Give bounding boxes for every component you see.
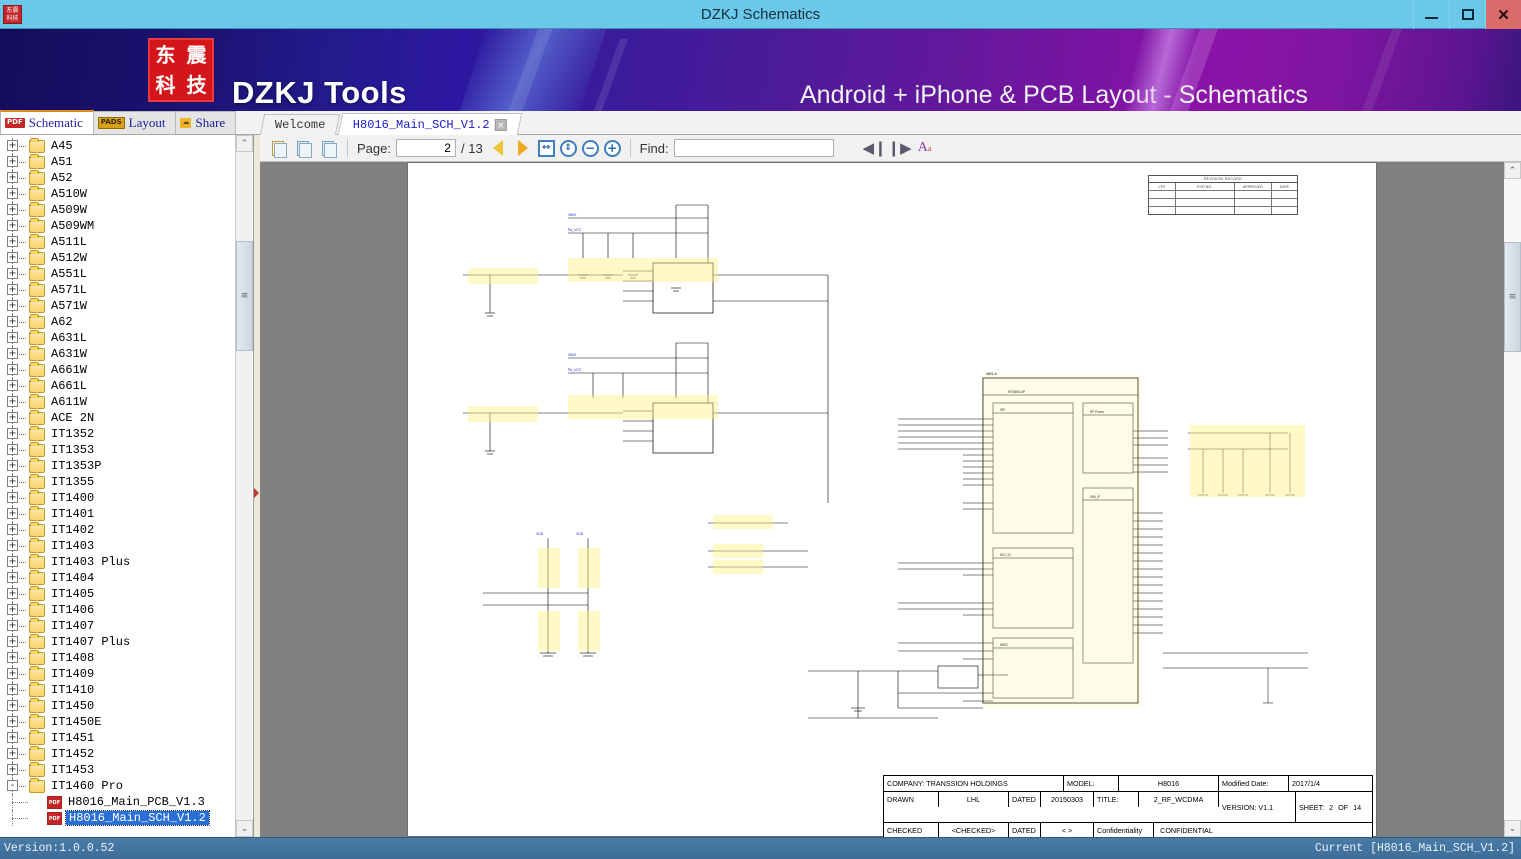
tree-indent-guide: +	[0, 602, 28, 618]
expand-icon[interactable]: +	[7, 460, 18, 471]
expand-icon[interactable]: +	[7, 540, 18, 551]
pdf-toolbar: Page: / 13 ↔ ⇕ − + Find: ◀❙ ❙▶ Aa	[260, 135, 1521, 162]
tree-item[interactable]: +IT1451	[0, 730, 236, 746]
tree-item-label: IT1403 Plus	[49, 555, 130, 569]
expand-icon[interactable]: +	[7, 412, 18, 423]
sheet-value: 2	[1329, 803, 1333, 812]
tree-item[interactable]: +IT1402	[0, 522, 236, 538]
expand-icon[interactable]: +	[7, 316, 18, 327]
tree-item[interactable]: +IT1400	[0, 490, 236, 506]
fit-width-icon[interactable]: ↔	[538, 140, 555, 157]
tree-indent-guide: +	[0, 666, 28, 682]
tree-indent-guide: +	[0, 314, 28, 330]
main-tab-bar: PDF Schematic PADS Layout ☁ Share	[0, 111, 1521, 135]
tree-item-label: IT1407	[49, 619, 94, 633]
tree-indent-guide: +	[0, 650, 28, 666]
svg-text:VBAT: VBAT	[568, 353, 577, 357]
tree-item-label: IT1355	[49, 475, 94, 489]
folder-icon	[29, 700, 45, 713]
folder-icon	[29, 172, 45, 185]
expand-icon[interactable]: +	[7, 652, 18, 663]
tree-item-label: ACE 2N	[49, 411, 94, 425]
tree-item[interactable]: +IT1404	[0, 570, 236, 586]
doc-tab-welcome-label: Welcome	[275, 118, 325, 132]
expand-icon[interactable]: +	[7, 380, 18, 391]
expand-icon[interactable]: +	[7, 492, 18, 503]
tab-layout[interactable]: PADS Layout	[93, 111, 177, 134]
tree-item-label: A661W	[49, 363, 87, 377]
tree-item[interactable]: +IT1450E	[0, 714, 236, 730]
tree-indent-guide: +	[0, 634, 28, 650]
app-banner: 东 震 科 技 DZKJ Tools Android + iPhone & PC…	[0, 29, 1521, 111]
folder-icon	[29, 156, 45, 169]
tree-indent-guide: +	[0, 362, 28, 378]
viewer-scrollbar[interactable]: ⌃ ≡ ⌄	[1504, 162, 1521, 837]
tree-item[interactable]: +IT1403	[0, 538, 236, 554]
tree-item[interactable]: +IT1353P	[0, 458, 236, 474]
tree-indent-guide: +	[0, 234, 28, 250]
find-next-icon[interactable]: ❙▶	[890, 138, 910, 158]
viewer-scroll-thumb[interactable]: ≡	[1504, 242, 1521, 352]
tree-item[interactable]: -IT1460 Pro	[0, 778, 236, 794]
folder-icon	[29, 748, 45, 761]
drawing-title-block: COMPANY: TRANSSION HOLDINGS MODEL: H8016…	[883, 775, 1373, 837]
tree-item-label: IT1406	[49, 603, 94, 617]
find-previous-icon[interactable]: ◀❙	[865, 138, 885, 158]
tree-indent-guide: +	[0, 682, 28, 698]
tree-item[interactable]: PDFH8016_Main_SCH_V1.2	[0, 810, 236, 826]
tree-item[interactable]: +IT1403 Plus	[0, 554, 236, 570]
folder-icon	[29, 732, 45, 745]
tree-indent-guide: +	[0, 458, 28, 474]
title-block-row-drawn: DRAWN LHL DATED 20150303 TITLE: 2_RF_WCD…	[884, 792, 1372, 823]
tree-item-label: A510W	[49, 187, 87, 201]
tree-indent-guide: +	[0, 250, 28, 266]
tree-indent-guide: +	[0, 346, 28, 362]
tree-item-label: IT1453	[49, 763, 94, 777]
tree-item-label: IT1408	[49, 651, 94, 665]
collapse-icon[interactable]: -	[7, 780, 18, 791]
minimize-button[interactable]	[1413, 0, 1449, 29]
tree-item-label: IT1402	[49, 523, 94, 537]
page-total-label: / 13	[461, 141, 483, 156]
expand-icon[interactable]: +	[7, 428, 18, 439]
tree-item-label: IT1407 Plus	[49, 635, 130, 649]
expand-icon[interactable]: +	[7, 636, 18, 647]
tree-indent-guide: +	[0, 298, 28, 314]
folder-icon	[29, 524, 45, 537]
folder-icon	[29, 204, 45, 217]
tree-item[interactable]: +IT1453	[0, 762, 236, 778]
sidebar-scroll-up-button[interactable]: ⌃	[236, 135, 253, 152]
tree-item-label: A512W	[49, 251, 87, 265]
tree-item[interactable]: +A571L	[0, 282, 236, 298]
folder-icon	[29, 492, 45, 505]
tree-item-label: A511L	[49, 235, 87, 249]
expand-icon[interactable]: +	[7, 444, 18, 455]
expand-icon[interactable]: +	[7, 268, 18, 279]
tree-item[interactable]: +IT1405	[0, 586, 236, 602]
tree-indent-guide: +	[0, 426, 28, 442]
company-label: COMPANY: TRANSSION HOLDINGS	[884, 776, 1064, 791]
folder-icon	[29, 252, 45, 265]
splitter-collapse-icon[interactable]	[254, 488, 259, 498]
pdf-icon: PDF	[5, 118, 25, 128]
zoom-in-icon[interactable]: +	[604, 140, 621, 157]
drawn-dated-label: DATED	[1009, 792, 1041, 807]
confidentiality-value: CONFIDENTIAL	[1154, 823, 1219, 837]
folder-icon	[29, 412, 45, 425]
tree-indent-guide: +	[0, 266, 28, 282]
tree-item[interactable]: +A611W	[0, 394, 236, 410]
folder-icon	[29, 428, 45, 441]
current-file-label: Current [H8016_Main_SCH_V1.2]	[1315, 842, 1515, 855]
tree-item[interactable]: +IT1410	[0, 682, 236, 698]
pdf-viewer[interactable]: VBATPA_VCC VBATPA_VCC VDDVDD MT6580-AP S…	[260, 162, 1504, 837]
tree-item[interactable]: +IT1450	[0, 698, 236, 714]
expand-icon[interactable]: +	[7, 396, 18, 407]
tree-item-label: A51	[49, 155, 73, 169]
sidebar-scroll-thumb[interactable]: ≡	[236, 241, 253, 351]
expand-icon[interactable]: +	[7, 572, 18, 583]
drawn-label: DRAWN	[884, 792, 939, 807]
tree-item-label: IT1405	[49, 587, 94, 601]
folder-icon	[29, 764, 45, 777]
expand-icon[interactable]: +	[7, 668, 18, 679]
tree-indent-guide	[0, 794, 46, 810]
tree-item-label: H8016_Main_PCB_V1.3	[66, 795, 205, 809]
folder-icon	[29, 540, 45, 553]
expand-icon[interactable]: +	[7, 236, 18, 247]
tree-indent-guide: +	[0, 506, 28, 522]
tree-item-label: A661L	[49, 379, 87, 393]
tree-indent-guide: +	[0, 570, 28, 586]
tree-item-label: IT1353P	[49, 459, 101, 473]
tree-item-label: IT1460 Pro	[49, 779, 123, 793]
folder-icon	[29, 380, 45, 393]
tree-indent-guide: +	[0, 538, 28, 554]
logo-char-4: 技	[187, 75, 207, 95]
folder-icon	[29, 396, 45, 409]
tree-indent-guide: +	[0, 282, 28, 298]
folder-icon	[29, 364, 45, 377]
tree-item[interactable]: +A631L	[0, 330, 236, 346]
close-button[interactable]: ✕	[1485, 0, 1521, 29]
folder-icon	[29, 556, 45, 569]
tree-indent-guide: +	[0, 746, 28, 762]
pdf-file-icon: PDF	[47, 812, 62, 825]
tree-indent-guide: +	[0, 586, 28, 602]
tree-item-label: IT1410	[49, 683, 94, 697]
folder-icon	[29, 460, 45, 473]
schematic-drawing: VBATPA_VCC VBATPA_VCC VDDVDD MT6580-AP S…	[408, 163, 1378, 837]
sidebar-scroll-down-button[interactable]: ⌄	[236, 820, 253, 837]
revision-record-row	[1149, 207, 1297, 214]
folder-icon	[29, 444, 45, 457]
tree-item-label: IT1352	[49, 427, 94, 441]
revrec-col-approved: APPROVED	[1235, 183, 1272, 190]
expand-icon[interactable]: +	[7, 284, 18, 295]
tree-item-label: H8016_Main_SCH_V1.2	[66, 811, 209, 825]
tree-item-label: A631W	[49, 347, 87, 361]
tree-item[interactable]: +A551L	[0, 266, 236, 282]
pads-icon: PADS	[98, 117, 125, 129]
tree-item[interactable]: +A62	[0, 314, 236, 330]
expand-icon[interactable]: +	[7, 172, 18, 183]
expand-icon[interactable]: +	[7, 300, 18, 311]
tree-item-label: A571L	[49, 283, 87, 297]
tree-item[interactable]: +IT1401	[0, 506, 236, 522]
model-label: MODEL:	[1064, 776, 1119, 791]
tree-indent-guide: +	[0, 618, 28, 634]
tree-indent-guide: +	[0, 394, 28, 410]
folder-icon	[29, 300, 45, 313]
tab-schematic-label: Schematic	[29, 115, 83, 131]
file-tree[interactable]: +A45+A51+A52+A510W+A509W+A509WM+A511L+A5…	[0, 135, 236, 826]
title-label: TITLE:	[1094, 792, 1139, 807]
tree-item[interactable]: +A510W	[0, 186, 236, 202]
version-label: VERSION: V1.1	[1219, 792, 1296, 822]
tree-item-label: A631L	[49, 331, 87, 345]
tree-item-label: IT1452	[49, 747, 94, 761]
find-label: Find:	[640, 141, 669, 156]
tab-schematic[interactable]: PDF Schematic	[0, 110, 94, 134]
search-input[interactable]	[674, 139, 834, 157]
tree-item[interactable]: +A52	[0, 170, 236, 186]
expand-icon[interactable]: +	[7, 252, 18, 263]
viewer-scroll-up-button[interactable]: ⌃	[1504, 162, 1521, 179]
doc-tab-h8016-label: H8016_Main_SCH_V1.2	[353, 118, 490, 132]
expand-icon[interactable]: +	[7, 156, 18, 167]
tree-item[interactable]: +A512W	[0, 250, 236, 266]
expand-icon[interactable]: +	[7, 332, 18, 343]
tree-indent-guide	[0, 810, 46, 826]
tree-item[interactable]: +IT1409	[0, 666, 236, 682]
title-value: 2_RF_WCDMA	[1139, 792, 1219, 807]
tree-indent-guide: +	[0, 474, 28, 490]
tree-item[interactable]: +A661L	[0, 378, 236, 394]
revision-record-title: REVISION RECORD	[1149, 176, 1297, 183]
tree-indent-guide: +	[0, 170, 28, 186]
revrec-col-ecr: ECR NO.	[1176, 183, 1235, 190]
folder-icon	[29, 684, 45, 697]
extract-page-icon[interactable]	[318, 138, 338, 158]
expand-icon[interactable]: +	[7, 716, 18, 727]
folder-icon	[29, 604, 45, 617]
duplicate-page-icon[interactable]	[293, 138, 313, 158]
modified-date-value: 2017/1/4	[1289, 776, 1372, 791]
expand-icon[interactable]: +	[7, 348, 18, 359]
tree-item-label: IT1403	[49, 539, 94, 553]
expand-icon[interactable]: +	[7, 364, 18, 375]
tree-indent-guide: -	[0, 778, 28, 794]
close-icon[interactable]: ×	[495, 119, 507, 131]
window-controls: ✕	[1413, 0, 1521, 29]
status-bar: Version:1.0.0.52 Current [H8016_Main_SCH…	[0, 837, 1521, 859]
folder-icon	[29, 348, 45, 361]
revision-record-row	[1149, 191, 1297, 199]
tree-indent-guide: +	[0, 186, 28, 202]
fit-page-icon[interactable]: ⇕	[560, 140, 577, 157]
folder-icon	[29, 316, 45, 329]
folder-icon	[29, 188, 45, 201]
tree-item[interactable]: +A511L	[0, 234, 236, 250]
tree-item[interactable]: +A631W	[0, 346, 236, 362]
tree-indent-guide: +	[0, 202, 28, 218]
folder-icon	[29, 636, 45, 649]
tree-item-label: IT1400	[49, 491, 94, 505]
tree-item-label: IT1409	[49, 667, 94, 681]
zoom-out-icon[interactable]: −	[582, 140, 599, 157]
dzkj-logo: 东 震 科 技	[148, 38, 214, 102]
tree-indent-guide: +	[0, 554, 28, 570]
sidebar-scrollbar[interactable]: ⌃ ≡ ⌄	[235, 135, 252, 837]
revision-record-header-row: LTR ECR NO. APPROVED DATE	[1149, 183, 1297, 191]
tab-share[interactable]: ☁ Share	[175, 111, 236, 134]
banner-title: DZKJ Tools	[232, 75, 407, 111]
tree-item[interactable]: PDFH8016_Main_PCB_V1.3	[0, 794, 236, 810]
tree-item[interactable]: +IT1408	[0, 650, 236, 666]
tree-indent-guide: +	[0, 522, 28, 538]
tree-item-label: IT1353	[49, 443, 94, 457]
folder-icon	[29, 780, 45, 793]
checked-dated-label: DATED	[1009, 823, 1041, 837]
tree-indent-guide: +	[0, 330, 28, 346]
tree-item-label: A509WM	[49, 219, 94, 233]
logo-char-2: 震	[187, 45, 207, 65]
tree-item-label: A52	[49, 171, 73, 185]
expand-icon[interactable]: +	[7, 556, 18, 567]
find-options-icon[interactable]: Aa	[915, 138, 935, 158]
tree-item-label: IT1451	[49, 731, 94, 745]
tree-item[interactable]: +IT1355	[0, 474, 236, 490]
tree-item[interactable]: +A509WM	[0, 218, 236, 234]
sheet-of-label: OF	[1338, 803, 1348, 812]
sheet-total: 14	[1353, 803, 1361, 812]
revision-record-row	[1149, 199, 1297, 207]
expand-icon[interactable]: +	[7, 604, 18, 615]
folder-icon	[29, 652, 45, 665]
drawn-value: LHL	[939, 792, 1009, 807]
tree-indent-guide: +	[0, 762, 28, 778]
folder-icon	[29, 572, 45, 585]
folder-icon	[29, 476, 45, 489]
tree-indent-guide: +	[0, 138, 28, 154]
next-page-icon[interactable]	[513, 138, 533, 158]
tree-item-label: A571W	[49, 299, 87, 313]
doc-tab-welcome[interactable]: Welcome	[260, 114, 341, 135]
tree-indent-guide: +	[0, 378, 28, 394]
expand-icon[interactable]: +	[7, 732, 18, 743]
tree-item[interactable]: +A509W	[0, 202, 236, 218]
expand-icon[interactable]: +	[7, 204, 18, 215]
tree-item[interactable]: +IT1407	[0, 618, 236, 634]
folder-icon	[29, 588, 45, 601]
tree-item[interactable]: +A45	[0, 138, 236, 154]
expand-icon[interactable]: +	[7, 620, 18, 631]
checked-dated-value: < >	[1041, 823, 1094, 837]
folder-icon	[29, 140, 45, 153]
svg-text:VBAT: VBAT	[568, 213, 577, 217]
confidentiality-label: Confidentiality	[1094, 823, 1154, 837]
tree-indent-guide: +	[0, 154, 28, 170]
expand-icon[interactable]: +	[7, 220, 18, 231]
modified-date-label: Modified Date:	[1219, 776, 1289, 791]
svg-text:VDD: VDD	[536, 532, 544, 536]
checked-value: <CHECKED>	[939, 823, 1009, 837]
expand-icon[interactable]: +	[7, 764, 18, 775]
tree-item[interactable]: +IT1452	[0, 746, 236, 762]
page-number-input[interactable]	[396, 139, 456, 157]
tree-item[interactable]: +ACE 2N	[0, 410, 236, 426]
expand-icon[interactable]: +	[7, 524, 18, 535]
tab-layout-label: Layout	[129, 115, 166, 131]
file-tree-sidebar[interactable]: +A45+A51+A52+A510W+A509W+A509WM+A511L+A5…	[0, 135, 254, 837]
tree-indent-guide: +	[0, 698, 28, 714]
tree-item-label: A509W	[49, 203, 87, 217]
page-label: Page:	[357, 141, 391, 156]
previous-page-icon[interactable]	[488, 138, 508, 158]
logo-char-1: 东	[156, 45, 176, 65]
tree-item-label: IT1450E	[49, 715, 101, 729]
folder-icon	[29, 284, 45, 297]
sheet-info: SHEET: 2 OF 14	[1296, 792, 1372, 822]
expand-icon[interactable]: +	[7, 508, 18, 519]
tree-item[interactable]: +A661W	[0, 362, 236, 378]
tree-indent-guide: +	[0, 730, 28, 746]
window-titlebar: 东震科技 DZKJ Schematics ✕	[0, 0, 1521, 29]
copy-icon[interactable]	[268, 138, 288, 158]
maximize-button[interactable]	[1449, 0, 1485, 29]
title-block-row-company: COMPANY: TRANSSION HOLDINGS MODEL: H8016…	[884, 776, 1372, 792]
expand-icon[interactable]: +	[7, 476, 18, 487]
tree-item[interactable]: +A571W	[0, 298, 236, 314]
pdf-file-icon: PDF	[47, 796, 62, 809]
expand-icon[interactable]: +	[7, 588, 18, 599]
tree-item[interactable]: +IT1353	[0, 442, 236, 458]
checked-label: CHECKED	[884, 823, 939, 837]
viewer-scroll-down-button[interactable]: ⌄	[1504, 820, 1521, 837]
tree-item-label: A45	[49, 139, 73, 153]
tree-indent-guide: +	[0, 490, 28, 506]
sheet-label: SHEET:	[1299, 803, 1324, 812]
folder-icon	[29, 668, 45, 681]
title-block-row-checked: CHECKED <CHECKED> DATED < > Confidential…	[884, 823, 1372, 837]
expand-icon[interactable]: +	[7, 684, 18, 695]
tree-indent-guide: +	[0, 410, 28, 426]
expand-icon[interactable]: +	[7, 748, 18, 759]
tree-item-label: A62	[49, 315, 73, 329]
tree-item[interactable]: +A51	[0, 154, 236, 170]
expand-icon[interactable]: +	[7, 188, 18, 199]
folder-icon	[29, 508, 45, 521]
svg-text:VDD: VDD	[576, 532, 584, 536]
folder-icon	[29, 332, 45, 345]
banner-subtitle: Android + iPhone & PCB Layout - Schemati…	[800, 81, 1308, 110]
tree-item[interactable]: +IT1407 Plus	[0, 634, 236, 650]
logo-char-3: 科	[156, 75, 176, 95]
tree-item-label: A611W	[49, 395, 87, 409]
tree-indent-guide: +	[0, 442, 28, 458]
tree-item-label: IT1404	[49, 571, 94, 585]
tree-item[interactable]: +IT1352	[0, 426, 236, 442]
doc-tab-h8016[interactable]: H8016_Main_SCH_V1.2 ×	[338, 113, 523, 135]
drawn-dated-value: 20150303	[1041, 792, 1094, 807]
expand-icon[interactable]: +	[7, 700, 18, 711]
expand-icon[interactable]: +	[7, 140, 18, 151]
model-value: H8016	[1119, 776, 1219, 791]
tree-item[interactable]: +IT1406	[0, 602, 236, 618]
